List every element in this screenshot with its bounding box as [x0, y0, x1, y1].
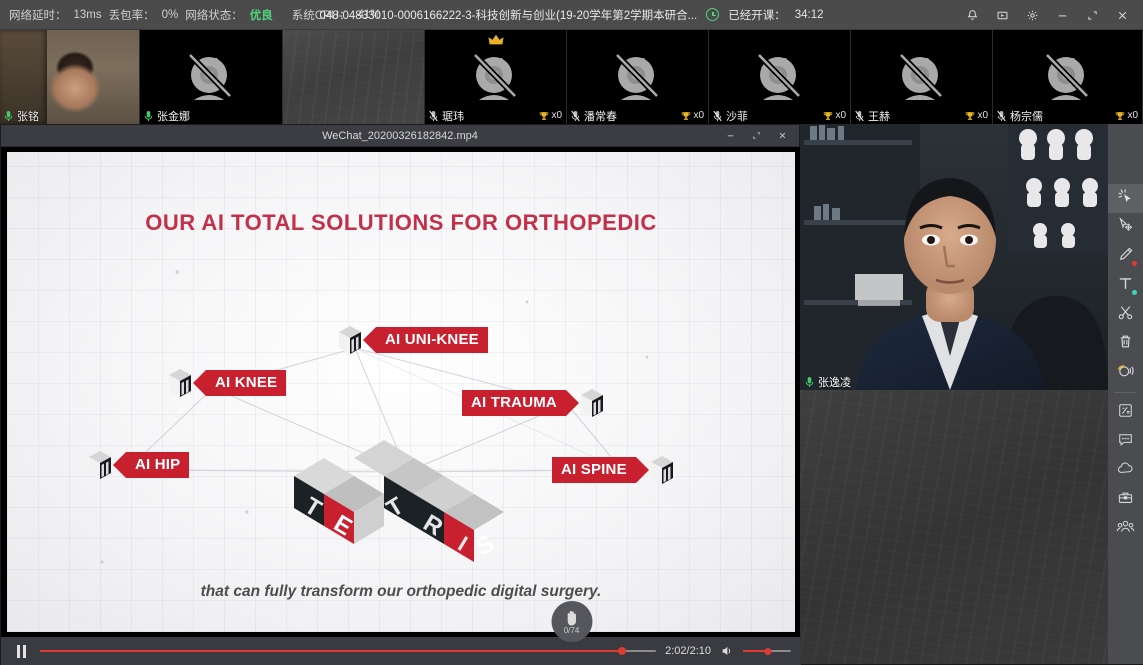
- iso-cube-icon: [649, 454, 675, 486]
- participant-name: 潘常春: [584, 108, 617, 124]
- trophy-icon: [1115, 111, 1125, 121]
- tool-color-dot: [1132, 261, 1137, 266]
- pause-button[interactable]: [11, 643, 31, 659]
- participant-tile[interactable]: 张铭: [0, 30, 140, 124]
- participant-trophy: x0: [539, 110, 562, 121]
- seek-bar[interactable]: [40, 644, 656, 658]
- seek-fill: [40, 650, 622, 653]
- mic-off-icon: [713, 110, 722, 122]
- player-minimize-icon[interactable]: [717, 125, 743, 147]
- network-state-label: 网络状态：: [185, 7, 243, 23]
- notification-bell-icon[interactable]: [957, 0, 987, 30]
- participant-tile[interactable]: 杨宗儒 x0: [993, 30, 1143, 124]
- iso-cube-icon: [579, 387, 605, 419]
- tag-label: AI UNI-KNEE: [376, 327, 488, 353]
- trash-icon: [1117, 333, 1134, 355]
- player-controls: 2:02/2:10: [1, 637, 801, 665]
- toolbox-icon: [1117, 489, 1134, 511]
- time-display: 2:02/2:10: [665, 645, 711, 657]
- participant-trophy: x0: [823, 110, 846, 121]
- participant-name-bar: 沙菲 x0: [709, 107, 850, 124]
- participant-name-bar: 琚玮 x0: [425, 107, 566, 124]
- tag-arrow: [193, 370, 206, 396]
- record-icon[interactable]: [987, 0, 1017, 30]
- clock-icon: [706, 8, 719, 21]
- tag-arrow: [363, 327, 376, 353]
- restore-icon[interactable]: [1077, 0, 1107, 30]
- cpu-value: 41%: [358, 9, 381, 21]
- mic-on-icon: [144, 110, 153, 122]
- tag-arrow: [636, 457, 649, 483]
- crown-icon: [488, 34, 504, 46]
- tool-color-dot: [1132, 290, 1137, 295]
- tool-eraser[interactable]: [1108, 358, 1143, 387]
- volume-icon[interactable]: [720, 644, 734, 658]
- participant-trophy-count: x0: [551, 110, 562, 121]
- cloud-icon: [1116, 460, 1135, 482]
- participant-name: 王赫: [868, 108, 890, 124]
- slide-caption: that can fully transform our orthopedic …: [7, 583, 795, 601]
- minimize-icon[interactable]: [1047, 0, 1077, 30]
- participant-trophy-count: x0: [693, 110, 704, 121]
- settings-gear-icon[interactable]: [1017, 0, 1047, 30]
- tag-label: AI TRAUMA: [462, 390, 566, 416]
- laser-pointer-icon: [1117, 188, 1134, 210]
- whiteboard-icon: [1117, 402, 1134, 424]
- tool-participants[interactable]: [1108, 514, 1143, 543]
- network-status-group: 网络延时： 13ms 丢包率： 0% 网络状态： 优良 系统CPU： 41%: [0, 7, 381, 23]
- participant-name: 张铭: [17, 108, 39, 124]
- iso-cube-icon: [167, 367, 193, 399]
- participant-name-bar: 张金娜: [140, 107, 282, 124]
- participant-video-feed: [283, 30, 424, 124]
- seek-knob[interactable]: [618, 647, 626, 655]
- mic-off-icon: [429, 110, 438, 122]
- participant-name: 杨宗儒: [1010, 108, 1043, 124]
- solution-tag: AI SPINE: [552, 457, 675, 483]
- participants-icon: [1116, 518, 1135, 540]
- solution-tag: AI UNI-KNEE: [337, 327, 488, 353]
- video-player-window: WeChat_20200326182842.mp4 OUR AI TOTAL S…: [0, 124, 800, 664]
- participant-tile[interactable]: [283, 30, 425, 124]
- iso-cube-icon: [87, 449, 113, 481]
- participant-tile[interactable]: 沙菲 x0: [709, 30, 851, 124]
- annotation-toolbar: [1108, 124, 1143, 664]
- volume-slider[interactable]: [743, 644, 791, 658]
- right-column: 张逸凌: [800, 124, 1143, 664]
- mic-on-icon: [4, 110, 13, 122]
- tag-label: AI HIP: [126, 452, 189, 478]
- tool-trash[interactable]: [1108, 329, 1143, 358]
- player-stage[interactable]: OUR AI TOTAL SOLUTIONS FOR ORTHOPEDIC: [1, 147, 801, 637]
- scissors-icon: [1117, 304, 1134, 326]
- participant-trophy: x0: [965, 110, 988, 121]
- teacher-video-feed: [800, 124, 1108, 390]
- camera-off-icon: [181, 51, 241, 103]
- participant-trophy: x0: [681, 110, 704, 121]
- trophy-icon: [539, 111, 549, 121]
- participant-tile[interactable]: 王赫 x0: [851, 30, 993, 124]
- solution-tag: AI KNEE: [167, 370, 286, 396]
- hand-raise-button[interactable]: 0/74: [551, 601, 592, 642]
- chat-icon: [1117, 431, 1134, 453]
- classroom-app: 网络延时： 13ms 丢包率： 0% 网络状态： 优良 系统CPU： 41% 0…: [0, 0, 1143, 664]
- participant-trophy-count: x0: [835, 110, 846, 121]
- network-latency-label: 网络延时：: [9, 7, 67, 23]
- participant-tile[interactable]: 琚玮 x0: [425, 30, 567, 124]
- svg-text:S: S: [471, 530, 499, 561]
- tool-toolbox[interactable]: [1108, 485, 1143, 514]
- camera-off-icon: [466, 51, 526, 103]
- teacher-name-bar: 张逸凌: [800, 373, 1108, 390]
- iso-cube-icon: [337, 324, 363, 356]
- window-controls: [957, 0, 1137, 30]
- eraser-icon: [1116, 362, 1135, 384]
- elapsed-label: 已经开课：: [728, 7, 786, 23]
- player-title: WeChat_20200326182842.mp4: [1, 130, 799, 142]
- solution-tag: AI TRAUMA: [462, 390, 605, 416]
- packet-loss-label: 丢包率：: [109, 7, 155, 23]
- tool-chat[interactable]: [1108, 427, 1143, 456]
- participant-strip: 张铭 张金娜 琚玮 x0: [0, 30, 1143, 124]
- tool-text[interactable]: [1108, 271, 1143, 300]
- tetris-logo: T E T R I S: [276, 440, 526, 572]
- participant-trophy-count: x0: [1127, 110, 1138, 121]
- mic-off-icon: [571, 110, 580, 122]
- player-maximize-icon[interactable]: [743, 125, 769, 147]
- tool-whiteboard[interactable]: [1108, 398, 1143, 427]
- secondary-video-tile[interactable]: [800, 390, 1108, 664]
- trophy-icon: [965, 111, 975, 121]
- hand-raise-icon: [562, 608, 581, 627]
- cpu-label: 系统CPU：: [292, 7, 351, 23]
- elapsed-value: 34:12: [795, 9, 824, 21]
- tool-pen[interactable]: [1108, 242, 1143, 271]
- participant-trophy: x0: [1115, 110, 1138, 121]
- tool-cloud[interactable]: [1108, 456, 1143, 485]
- toolbar-separator: [1114, 392, 1137, 393]
- camera-off-icon: [1038, 51, 1098, 103]
- tag-label: AI KNEE: [206, 370, 286, 396]
- camera-off-icon: [750, 51, 810, 103]
- player-titlebar[interactable]: WeChat_20200326182842.mp4: [1, 125, 799, 147]
- network-state-value: 优良: [250, 7, 273, 23]
- close-icon[interactable]: [1107, 0, 1137, 30]
- participant-trophy-count: x0: [977, 110, 988, 121]
- tag-label: AI SPINE: [552, 457, 636, 483]
- camera-off-icon: [892, 51, 952, 103]
- participant-name: 沙菲: [726, 108, 748, 124]
- participant-tile[interactable]: 张金娜: [140, 30, 283, 124]
- participant-name-bar: 杨宗儒 x0: [993, 107, 1142, 124]
- teacher-name: 张逸凌: [818, 374, 851, 390]
- participant-name-bar: 潘常春 x0: [567, 107, 708, 124]
- mic-on-icon: [805, 376, 814, 388]
- top-status-bar: 网络延时： 13ms 丢包率： 0% 网络状态： 优良 系统CPU： 41% 0…: [0, 0, 1143, 30]
- player-close-icon[interactable]: [769, 125, 795, 147]
- camera-off-icon: [608, 51, 668, 103]
- hand-raise-count: 0/74: [564, 626, 580, 635]
- player-window-controls: [717, 125, 799, 147]
- mic-off-icon: [997, 110, 1006, 122]
- mic-off-icon: [855, 110, 864, 122]
- volume-knob[interactable]: [764, 648, 771, 655]
- participant-name: 琚玮: [442, 108, 464, 124]
- tag-arrow: [566, 390, 579, 416]
- participant-name-bar: 王赫 x0: [851, 107, 992, 124]
- solution-tag: AI HIP: [87, 452, 189, 478]
- participant-name: 张金娜: [157, 108, 190, 124]
- tool-laser-pointer[interactable]: [1108, 184, 1143, 213]
- tool-scissors[interactable]: [1108, 300, 1143, 329]
- participant-name-bar: 张铭: [0, 107, 139, 124]
- packet-loss-value: 0%: [162, 9, 179, 21]
- network-latency-value: 13ms: [74, 9, 102, 21]
- teacher-video-tile[interactable]: 张逸凌: [800, 124, 1108, 390]
- tool-cursor-move[interactable]: [1108, 213, 1143, 242]
- cursor-move-icon: [1117, 217, 1134, 239]
- trophy-icon: [681, 111, 691, 121]
- presentation-slide: OUR AI TOTAL SOLUTIONS FOR ORTHOPEDIC: [7, 152, 795, 632]
- participant-tile[interactable]: 潘常春 x0: [567, 30, 709, 124]
- trophy-icon: [823, 111, 833, 121]
- tag-arrow: [113, 452, 126, 478]
